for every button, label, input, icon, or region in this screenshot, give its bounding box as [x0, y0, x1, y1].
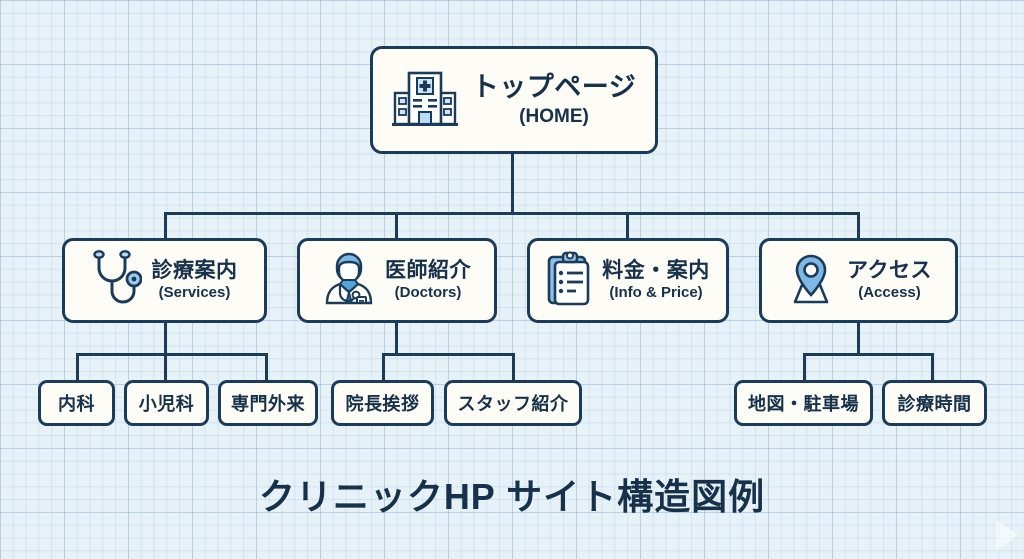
node-access-title: アクセス — [847, 259, 932, 283]
diagram-caption: クリニックHP サイト構造図例 — [0, 468, 1024, 520]
connector-access-bus — [803, 353, 934, 356]
node-info-price-labels: 料金・案内 (Info & Price) — [602, 259, 710, 302]
node-access-subtitle: (Access) — [858, 285, 921, 302]
connector-access-stem — [857, 322, 860, 354]
connector-services-drop-2 — [164, 353, 167, 382]
node-specialty-outpatient-title: 専門外来 — [231, 390, 305, 416]
connector-level2-drop-2 — [395, 212, 398, 240]
connector-level2-drop-3 — [626, 212, 629, 240]
node-info-price-title: 料金・案内 — [602, 259, 710, 283]
node-pediatrics-title: 小児科 — [139, 390, 195, 416]
connector-services-drop-1 — [76, 353, 79, 382]
node-top-page-title: トップページ — [472, 72, 636, 102]
node-map-parking[interactable]: 地図・駐車場 — [734, 380, 873, 426]
diagram-canvas: トップページ (HOME) 診療案内 (Services) — [0, 0, 1024, 559]
node-top-page-labels: トップページ (HOME) — [472, 72, 636, 128]
node-top-page-subtitle: (HOME) — [519, 106, 589, 127]
node-staff-introduction[interactable]: スタッフ紹介 — [444, 380, 582, 426]
hospital-building-icon — [392, 67, 458, 134]
connector-access-drop-1 — [803, 353, 806, 382]
clipboard-icon — [546, 250, 592, 311]
node-internal-medicine-title: 内科 — [58, 390, 95, 416]
node-services-subtitle: (Services) — [159, 285, 231, 302]
stethoscope-icon — [92, 250, 142, 311]
node-map-parking-title: 地図・駐車場 — [748, 390, 859, 416]
node-services[interactable]: 診療案内 (Services) — [62, 238, 267, 323]
connector-doctors-bus — [382, 353, 515, 356]
node-consultation-hours-title: 診療時間 — [898, 390, 972, 416]
node-top-page[interactable]: トップページ (HOME) — [370, 46, 658, 154]
node-doctors[interactable]: 医師紹介 (Doctors) — [297, 238, 497, 323]
node-internal-medicine[interactable]: 内科 — [38, 380, 115, 426]
connector-level2-bus — [164, 212, 860, 215]
corner-arrow-icon — [996, 519, 1018, 551]
node-info-price[interactable]: 料金・案内 (Info & Price) — [527, 238, 729, 323]
node-staff-introduction-title: スタッフ紹介 — [458, 390, 569, 416]
doctor-icon — [323, 250, 375, 311]
node-consultation-hours[interactable]: 診療時間 — [882, 380, 987, 426]
node-access-labels: アクセス (Access) — [847, 259, 932, 302]
node-specialty-outpatient[interactable]: 専門外来 — [218, 380, 318, 426]
node-doctors-labels: 医師紹介 (Doctors) — [385, 259, 471, 302]
connector-access-drop-2 — [931, 353, 934, 382]
node-doctors-title: 医師紹介 — [385, 259, 471, 283]
node-access[interactable]: アクセス (Access) — [759, 238, 958, 323]
map-pin-icon — [785, 250, 837, 311]
node-director-greeting[interactable]: 院長挨拶 — [331, 380, 434, 426]
connector-root-stem — [511, 154, 514, 214]
connector-doctors-drop-2 — [512, 353, 515, 382]
connector-doctors-drop-1 — [382, 353, 385, 382]
node-director-greeting-title: 院長挨拶 — [346, 390, 420, 416]
node-services-title: 診療案内 — [152, 259, 238, 283]
connector-services-bus — [76, 353, 268, 356]
node-services-labels: 診療案内 (Services) — [152, 259, 238, 302]
node-doctors-subtitle: (Doctors) — [395, 285, 462, 302]
node-pediatrics[interactable]: 小児科 — [124, 380, 209, 426]
connector-level2-drop-4 — [857, 212, 860, 240]
connector-doctors-stem — [395, 322, 398, 354]
connector-services-stem — [164, 322, 167, 354]
connector-services-drop-3 — [265, 353, 268, 382]
connector-level2-drop-1 — [164, 212, 167, 240]
node-info-price-subtitle: (Info & Price) — [609, 285, 702, 302]
